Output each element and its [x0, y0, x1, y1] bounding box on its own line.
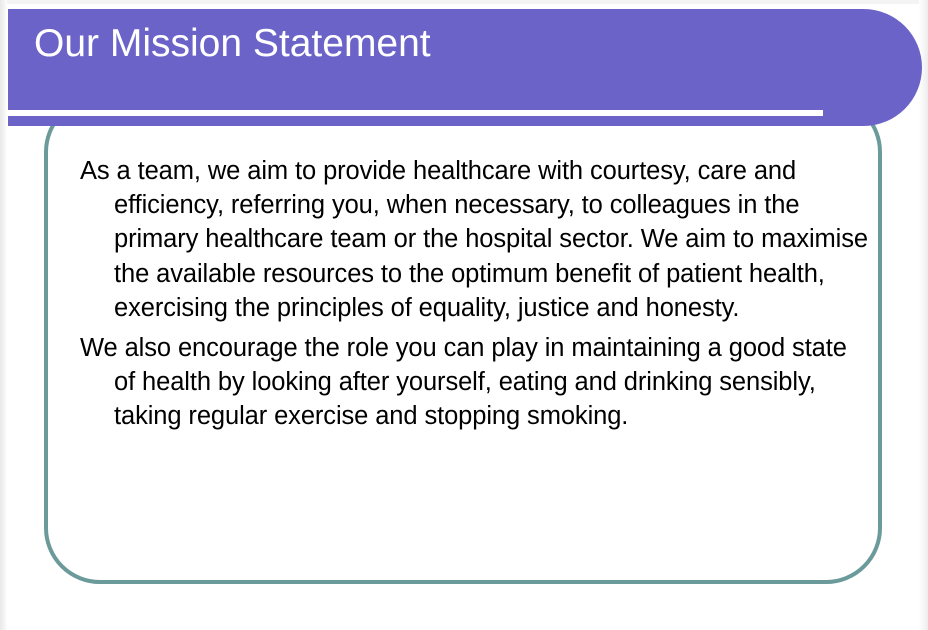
- content-box: As a team, we aim to provide healthcare …: [44, 96, 882, 584]
- slide-title: Our Mission Statement: [34, 20, 431, 68]
- header-divider-rule: [8, 110, 823, 116]
- mission-paragraph-1: As a team, we aim to provide healthcare …: [80, 154, 870, 325]
- mission-paragraph-2: We also encourage the role you can play …: [80, 331, 870, 434]
- slide-canvas: As a team, we aim to provide healthcare …: [0, 0, 928, 630]
- page-frame-left-edge: [0, 0, 7, 630]
- page-frame-top-edge: [0, 0, 928, 4]
- page-frame-right-edge: [919, 0, 928, 630]
- header-banner: Our Mission Statement: [8, 9, 922, 126]
- mission-statement-body: As a team, we aim to provide healthcare …: [80, 154, 870, 434]
